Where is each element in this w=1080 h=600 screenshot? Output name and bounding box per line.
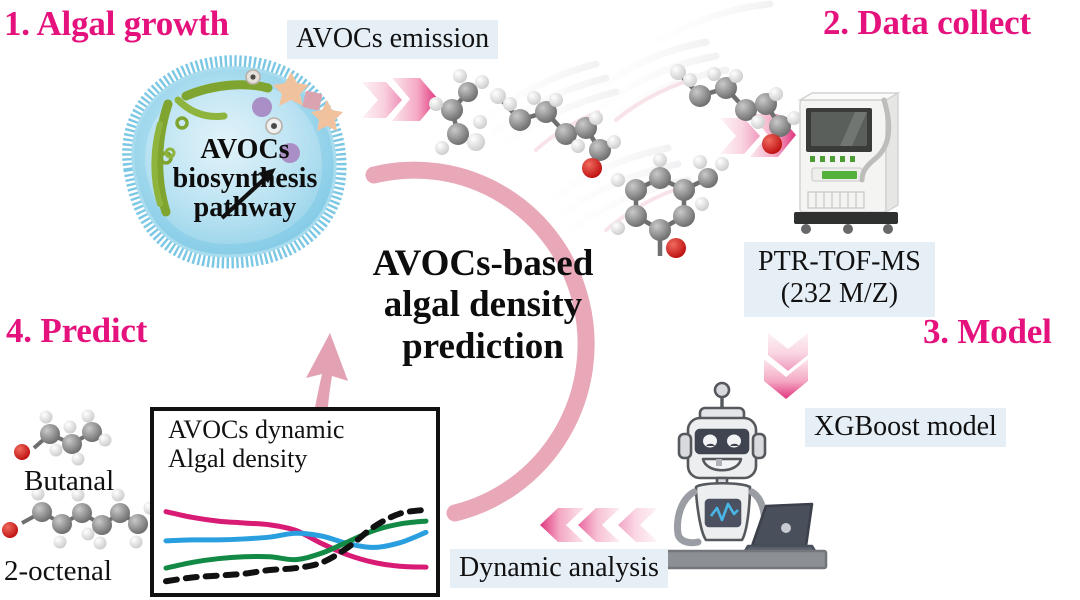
step-heading-algal-growth: 1. Algal growth xyxy=(4,4,229,44)
double-chevron-right-icon xyxy=(720,114,796,157)
robot-at-laptop-icon xyxy=(666,383,826,568)
chip-ptr-line2: (232 M/Z) xyxy=(758,278,921,310)
chart-series xyxy=(166,532,426,547)
molecule-label-2-octenal: 2-octenal xyxy=(4,555,112,588)
page-title-line1: AVOCs-based xyxy=(338,243,628,284)
chart-plot xyxy=(154,411,436,593)
cell-annotation-line2: biosynthesis xyxy=(160,164,330,193)
ptr-tof-ms-instrument-icon xyxy=(794,93,898,234)
triple-chevron-left-icon xyxy=(540,508,658,542)
chip-avocs-emission: AVOCs emission xyxy=(287,20,498,59)
step-heading-data-collect: 2. Data collect xyxy=(823,3,1031,43)
chip-xgboost-model: XGBoost model xyxy=(805,408,1006,447)
cell-annotation-line1: AVOCs xyxy=(160,135,330,164)
chip-dynamic-analysis: Dynamic analysis xyxy=(450,549,668,588)
page-title-line2: algal density xyxy=(338,284,628,325)
page-title-line3: prediction xyxy=(338,326,628,367)
cell-annotation-line3: pathway xyxy=(160,193,330,222)
double-chevron-right-icon xyxy=(362,78,438,121)
cell-annotation: AVOCs biosynthesis pathway xyxy=(160,135,330,222)
page-title: AVOCs-based algal density prediction xyxy=(338,243,628,367)
butanal-molecule-icon xyxy=(14,410,112,466)
step-heading-predict: 4. Predict xyxy=(6,311,147,351)
avocs-dynamics-chart: AVOCs dynamic Algal density xyxy=(150,407,440,597)
chip-ptr-tof-ms: PTR-TOF-MS (232 M/Z) xyxy=(744,242,935,317)
double-chevron-down-icon xyxy=(764,333,808,399)
step-heading-model: 3. Model xyxy=(923,312,1052,352)
graphical-abstract: 1. Algal growth 2. Data collect 3. Model… xyxy=(0,0,1080,600)
chip-ptr-line1: PTR-TOF-MS xyxy=(758,246,921,278)
molecule-label-butanal: Butanal xyxy=(24,465,114,498)
